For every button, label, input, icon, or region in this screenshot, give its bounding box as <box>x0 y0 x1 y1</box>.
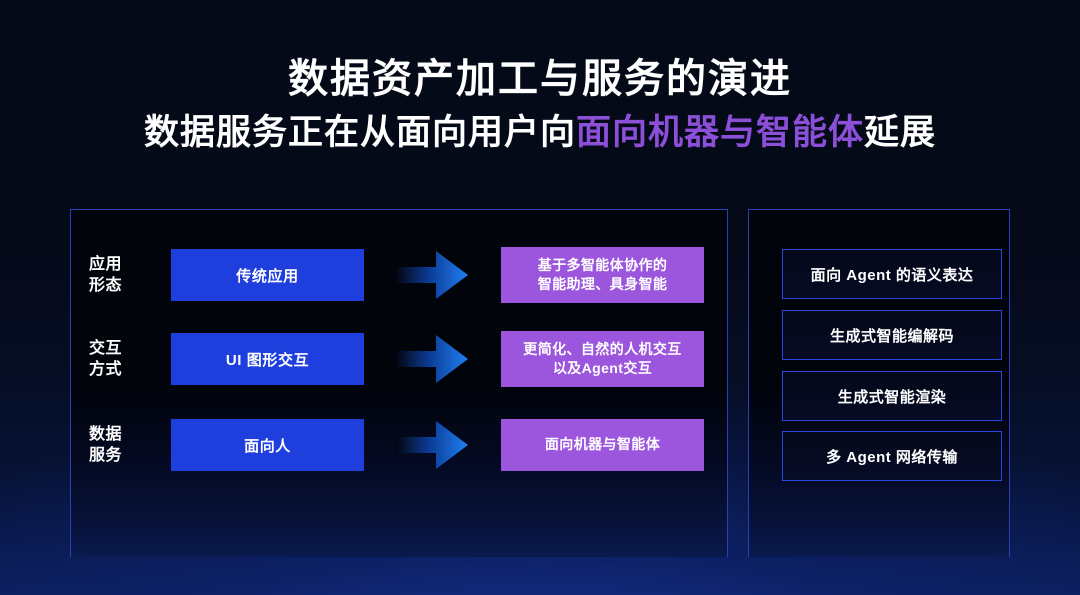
row-label-line1: 交互 <box>89 338 151 359</box>
after-state-box[interactable]: 基于多智能体协作的 智能助理、具身智能 <box>501 247 704 303</box>
evolution-row: 应用 形态 传统应用 基于多智能体 <box>71 249 729 301</box>
headline-block: 数据资产加工与服务的演进 数据服务正在从面向用户向面向机器与智能体延展 <box>0 56 1080 153</box>
before-state-box[interactable]: 传统应用 <box>171 249 364 301</box>
before-state-box[interactable]: 面向人 <box>171 419 364 471</box>
row-label-line1: 应用 <box>89 254 151 275</box>
subtitle-suffix: 延展 <box>864 113 936 152</box>
subtitle-prefix: 数据服务正在从面向用户向 <box>144 113 576 152</box>
evolution-panel: 应用 形态 传统应用 基于多智能体 <box>70 209 728 557</box>
after-state-line1: 更简化、自然的人机交互 <box>523 340 681 359</box>
row-label-line2: 形态 <box>89 275 151 296</box>
row-label-line1: 数据 <box>89 424 151 445</box>
arrow-right-icon <box>396 251 468 299</box>
capability-panel: 面向 Agent 的语义表达 生成式智能编解码 生成式智能渲染 多 Agent … <box>748 209 1010 557</box>
after-state-box[interactable]: 更简化、自然的人机交互 以及Agent交互 <box>501 331 704 387</box>
capability-card[interactable]: 面向 Agent 的语义表达 <box>782 249 1002 299</box>
after-state-line2: 智能助理、具身智能 <box>538 275 668 294</box>
row-label-application-form: 应用 形态 <box>89 254 151 296</box>
row-label-line2: 服务 <box>89 445 151 466</box>
before-state-box[interactable]: UI 图形交互 <box>171 333 364 385</box>
row-label-data-service: 数据 服务 <box>89 424 151 466</box>
subtitle-highlight: 面向机器与智能体 <box>576 113 864 152</box>
arrow-right-icon <box>396 421 468 469</box>
after-state-box[interactable]: 面向机器与智能体 <box>501 419 704 471</box>
page-title: 数据资产加工与服务的演进 <box>0 56 1080 103</box>
after-state-line2: 以及Agent交互 <box>523 359 681 378</box>
evolution-row: 交互 方式 UI 图形交互 更简化 <box>71 333 729 385</box>
capability-card[interactable]: 生成式智能渲染 <box>782 371 1002 421</box>
evolution-row: 数据 服务 面向人 面向机器与智能体 <box>71 419 729 471</box>
row-label-interaction-mode: 交互 方式 <box>89 338 151 380</box>
capability-card[interactable]: 生成式智能编解码 <box>782 310 1002 360</box>
arrow-right-icon <box>396 335 468 383</box>
row-label-line2: 方式 <box>89 359 151 380</box>
page-subtitle: 数据服务正在从面向用户向面向机器与智能体延展 <box>0 112 1080 153</box>
after-state-line1: 基于多智能体协作的 <box>538 256 668 275</box>
slide-background: 数据资产加工与服务的演进 数据服务正在从面向用户向面向机器与智能体延展 应用 形… <box>0 0 1080 595</box>
capability-card[interactable]: 多 Agent 网络传输 <box>782 431 1002 481</box>
